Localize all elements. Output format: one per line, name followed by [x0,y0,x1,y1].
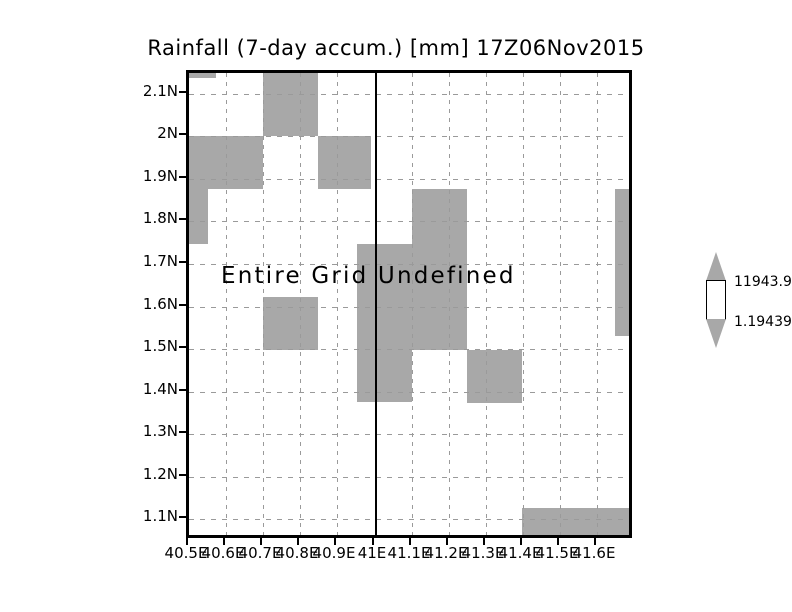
y-tick-mark-1 [179,133,186,135]
y-tick-label-8: 1.3N [118,422,178,440]
y-tick-mark-2 [179,176,186,178]
x-tick-mark-3 [297,538,299,545]
plot-axes-frame: Entire Grid Undefined [186,70,632,538]
y-tick-label-4: 1.7N [118,252,178,270]
y-tick-mark-3 [179,218,186,220]
x-tick-mark-1 [223,538,225,545]
y-tick-label-1: 2N [118,124,178,142]
x-tick-label-11: 41.6E [564,544,624,562]
colorbar-high-label: 11943.9 [734,274,792,290]
x-tick-mark-0 [186,538,188,545]
y-tick-mark-0 [179,91,186,93]
x-tick-mark-10 [557,538,559,545]
colorbar-arrow-down-icon [706,319,726,348]
y-tick-mark-9 [179,474,186,476]
colorbar-legend[interactable]: 11943.9 1.19439 [706,252,728,348]
y-tick-label-0: 2.1N [118,82,178,100]
y-tick-mark-5 [179,304,186,306]
grads-plot-canvas: Rainfall (7-day accum.) [mm] 17Z06Nov201… [0,0,792,612]
y-tick-mark-7 [179,389,186,391]
x-tick-mark-11 [594,538,596,545]
x-tick-mark-5 [372,538,374,545]
colorbar-box [706,280,726,320]
y-tick-label-10: 1.1N [118,507,178,525]
y-tick-label-9: 1.2N [118,465,178,483]
y-tick-mark-10 [179,516,186,518]
y-tick-label-5: 1.6N [118,295,178,313]
annotation-layer: Entire Grid Undefined [189,73,629,535]
y-tick-label-2: 1.9N [118,167,178,185]
x-tick-mark-2 [260,538,262,545]
x-tick-mark-9 [520,538,522,545]
y-tick-label-6: 1.5N [118,337,178,355]
colorbar-low-label: 1.19439 [734,314,792,330]
entire-grid-undefined-label: Entire Grid Undefined [221,263,516,289]
x-tick-mark-6 [409,538,411,545]
x-tick-mark-4 [334,538,336,545]
y-tick-label-7: 1.4N [118,380,178,398]
x-tick-mark-8 [483,538,485,545]
y-tick-label-3: 1.8N [118,209,178,227]
colorbar-arrow-up-icon [706,252,726,281]
x-tick-mark-7 [446,538,448,545]
y-tick-mark-8 [179,431,186,433]
y-tick-mark-4 [179,261,186,263]
page-title: Rainfall (7-day accum.) [mm] 17Z06Nov201… [0,36,792,60]
y-tick-mark-6 [179,346,186,348]
